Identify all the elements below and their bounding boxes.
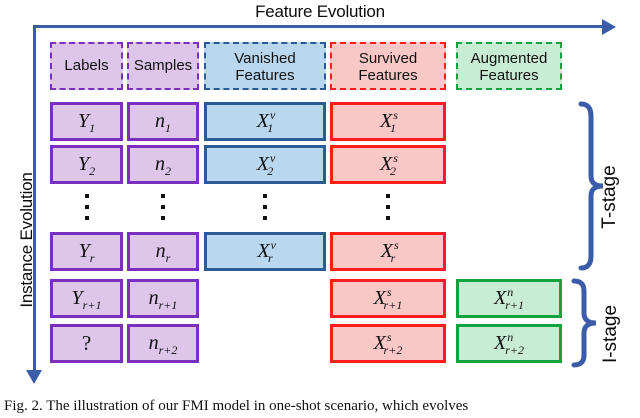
column-header-survived: SurvivedFeatures — [330, 42, 446, 90]
instance-evolution-arrow-head — [26, 370, 42, 384]
column-header-text: Samples — [134, 57, 192, 74]
matrix-cell-vanished-row-2: Xv2 — [204, 145, 326, 184]
cell-math-symbol: Xsr — [381, 240, 396, 263]
matrix-cell-samples-row-2: n2 — [127, 145, 199, 184]
matrix-cell-samples-row-r: nr — [127, 232, 199, 271]
column-header-labels: Labels — [50, 42, 123, 90]
matrix-cell-augmented-row-r2: Xnr+2 — [456, 324, 562, 363]
vertical-ellipsis-survived — [386, 194, 390, 220]
column-header-text: Features — [358, 67, 417, 84]
cell-math-symbol: Yr+1 — [72, 287, 102, 310]
cell-math-symbol: Yr — [79, 240, 95, 263]
cell-math-symbol: Y1 — [78, 110, 95, 133]
cell-math-symbol: Xnr+2 — [494, 332, 524, 355]
column-header-samples: Samples — [127, 42, 199, 90]
column-header-text: Augmented — [471, 50, 548, 67]
column-header-text: Features — [235, 67, 294, 84]
cell-math-symbol: nr+1 — [149, 287, 178, 310]
cell-math-symbol: Xv1 — [257, 110, 274, 133]
matrix-cell-labels-row-r2: ? — [50, 324, 123, 363]
matrix-cell-labels-row-r1: Yr+1 — [50, 279, 123, 318]
cell-math-symbol: Xs1 — [380, 110, 396, 133]
i-stage-brace — [568, 277, 598, 369]
matrix-cell-augmented-row-r1: Xnr+1 — [456, 279, 562, 318]
cell-math-symbol: nr+2 — [149, 332, 178, 355]
cell-math-symbol: Xsr+2 — [374, 332, 403, 355]
t-stage-label: T-stage — [599, 152, 621, 242]
column-header-text: Vanished — [234, 50, 295, 67]
matrix-cell-survived-row-1: Xs1 — [330, 102, 446, 141]
column-header-augmented: AugmentedFeatures — [456, 42, 562, 90]
instance-evolution-axis-line — [33, 25, 36, 373]
feature-evolution-arrow-head — [602, 19, 616, 35]
matrix-cell-survived-row-r: Xsr — [330, 232, 446, 271]
cell-math-symbol: n1 — [155, 110, 171, 133]
cell-math-symbol: n2 — [155, 153, 171, 176]
vertical-ellipsis-vanished — [263, 194, 267, 220]
cell-math-symbol: Xsr+1 — [374, 287, 403, 310]
matrix-cell-vanished-row-r: Xvr — [204, 232, 326, 271]
cell-math-symbol: ? — [82, 331, 91, 356]
matrix-cell-samples-row-r1: nr+1 — [127, 279, 199, 318]
feature-evolution-axis-label: Feature Evolution — [0, 2, 640, 22]
column-header-text: Features — [479, 67, 538, 84]
matrix-cell-survived-row-2: Xs2 — [330, 145, 446, 184]
column-header-vanished: VanishedFeatures — [204, 42, 326, 90]
cell-math-symbol: Y2 — [78, 153, 95, 176]
cell-math-symbol: Xv2 — [257, 153, 274, 176]
matrix-cell-labels-row-r: Yr — [50, 232, 123, 271]
figure-root: Feature Evolution Instance Evolution Lab… — [0, 0, 640, 418]
figure-caption: Fig. 2. The illustration of our FMI mode… — [4, 398, 640, 415]
cell-math-symbol: Xvr — [257, 240, 272, 263]
i-stage-label: I-stage — [600, 289, 622, 379]
matrix-cell-vanished-row-1: Xv1 — [204, 102, 326, 141]
matrix-cell-samples-row-1: n1 — [127, 102, 199, 141]
column-header-text: Survived — [359, 50, 417, 67]
matrix-cell-survived-row-r2: Xsr+2 — [330, 324, 446, 363]
column-header-text: Labels — [64, 57, 108, 74]
feature-evolution-axis-line — [33, 25, 605, 28]
matrix-cell-samples-row-r2: nr+2 — [127, 324, 199, 363]
matrix-cell-labels-row-2: Y2 — [50, 145, 123, 184]
cell-math-symbol: Xs2 — [380, 153, 396, 176]
cell-math-symbol: Xnr+1 — [494, 287, 524, 310]
vertical-ellipsis-samples — [161, 194, 165, 220]
matrix-cell-survived-row-r1: Xsr+1 — [330, 279, 446, 318]
vertical-ellipsis-labels — [85, 194, 89, 220]
matrix-cell-labels-row-1: Y1 — [50, 102, 123, 141]
cell-math-symbol: nr — [156, 240, 171, 263]
